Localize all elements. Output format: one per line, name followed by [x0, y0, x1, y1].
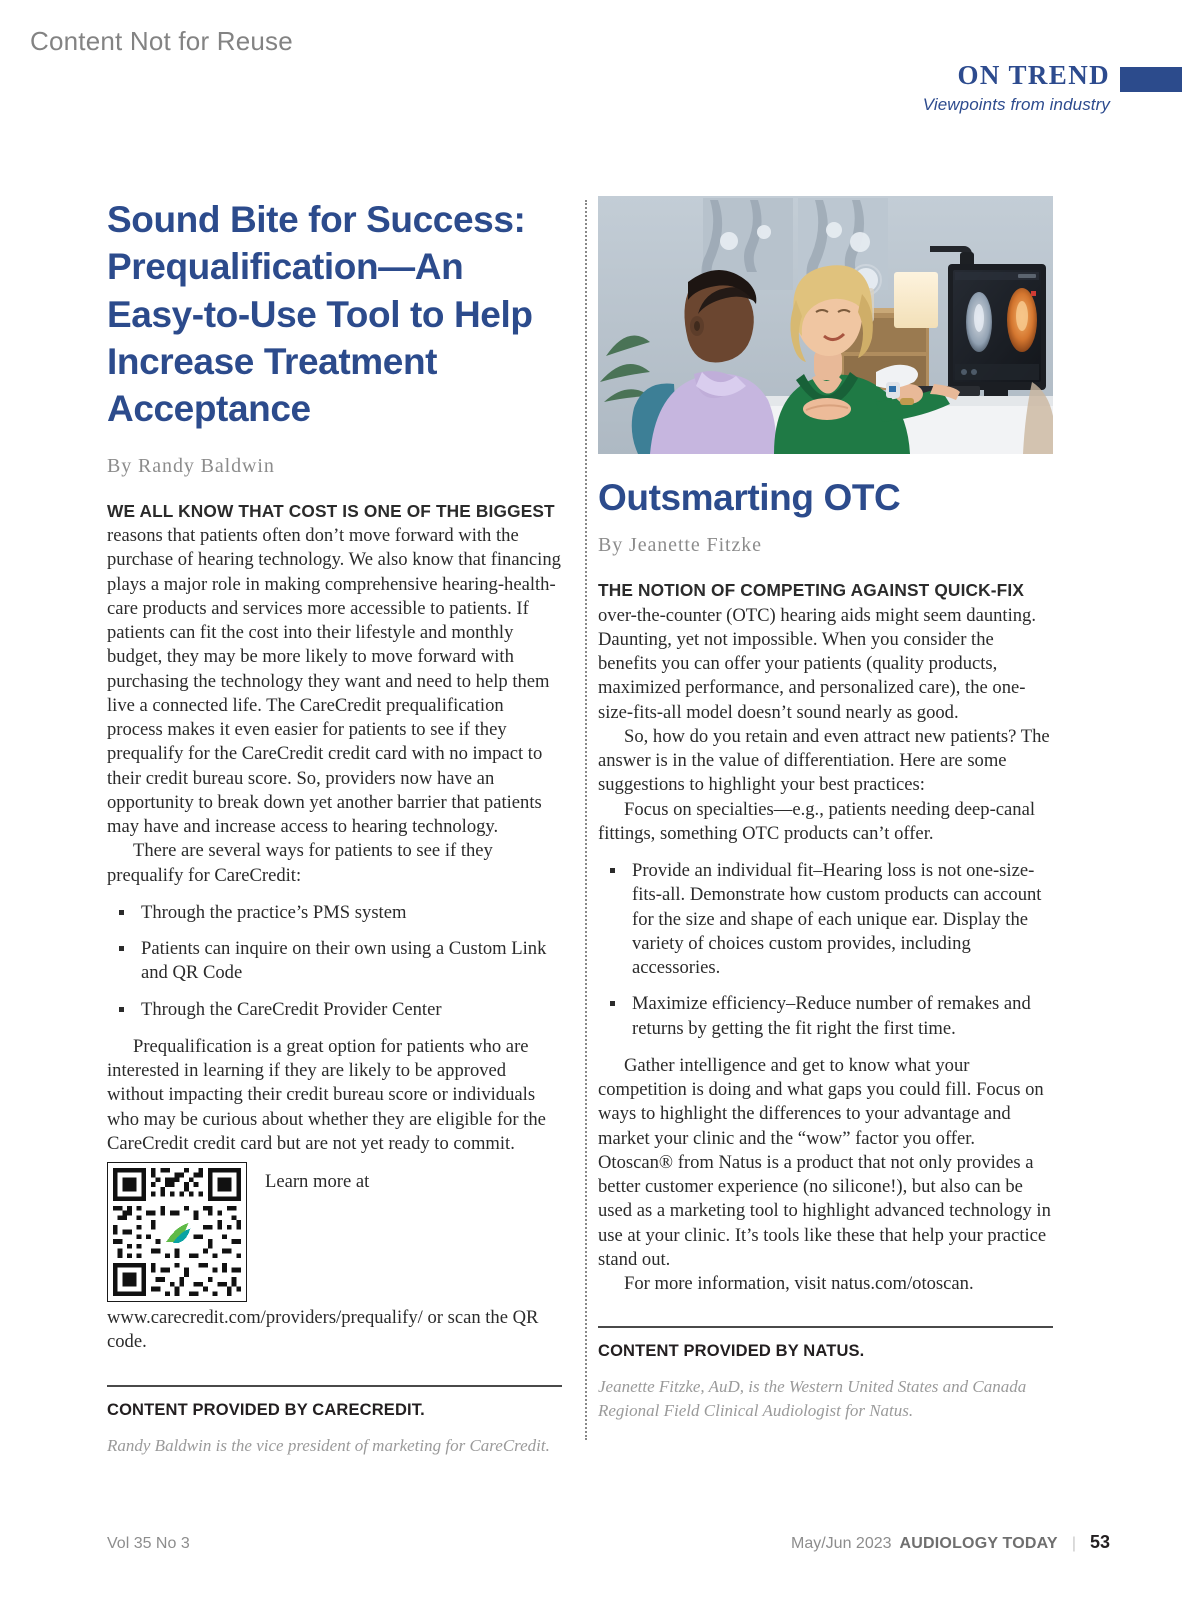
right-article-paragraph-1-rest: over-the-counter (OTC) hearing aids migh… [598, 605, 1036, 723]
article-photo [598, 196, 1053, 454]
article-photo-graphic [598, 196, 1053, 454]
right-article-paragraph-2: So, how do you retain and even attract n… [598, 725, 1053, 798]
footer-issue-date: May/Jun 2023 [791, 1535, 892, 1553]
left-article-qr-paragraph-group: Prequalification is a great option for p… [107, 1035, 562, 1355]
carecredit-logo-mark [160, 1215, 193, 1248]
right-article-headline: Outsmarting OTC [598, 476, 1053, 520]
magazine-page: Content Not for Reuse ON TREND Viewpoint… [0, 0, 1200, 1606]
right-article-author-bio: Jeanette Fitzke, AuD, is the Western Uni… [598, 1375, 1053, 1422]
right-article-provided-by: CONTENT PROVIDED BY NATUS. [598, 1342, 1053, 1361]
left-article-paragraph-2: There are several ways for patients to s… [107, 839, 562, 888]
column-divider-rule [585, 200, 587, 1440]
right-article-bullet-list: Provide an individual fit–Hearing loss i… [598, 859, 1053, 1041]
running-head-accent-bar [1120, 67, 1182, 92]
page-footer: Vol 35 No 3 May/Jun 2023 AUDIOLOGY TODAY… [107, 1532, 1110, 1553]
right-article: Outsmarting OTC By Jeanette Fitzke THE N… [598, 196, 1053, 1422]
left-article-headline: Sound Bite for Success: Prequalification… [107, 196, 562, 433]
qr-code-icon[interactable] [107, 1162, 247, 1302]
right-article-footer-rule [598, 1326, 1053, 1328]
right-article-paragraph-3: Focus on specialties—e.g., patients need… [598, 798, 1053, 847]
list-item: Patients can inquire on their own using … [141, 937, 562, 986]
list-item: Maximize efficiency–Reduce number of rem… [632, 992, 1053, 1041]
list-item: Provide an individual fit–Hearing loss i… [632, 859, 1053, 980]
left-article-paragraph-3: Prequalification is a great option for p… [107, 1035, 562, 1156]
left-article-provided-by: CONTENT PROVIDED BY CARECREDIT. [107, 1401, 562, 1420]
right-article-lead-caps: THE NOTION OF COMPETING AGAINST QUICK-FI… [598, 580, 1024, 600]
footer-separator: | [1066, 1535, 1082, 1553]
left-article-author-bio: Randy Baldwin is the vice president of m… [107, 1434, 562, 1457]
left-article-paragraph-1-rest: reasons that patients often don’t move f… [107, 525, 561, 837]
left-article-bullet-list: Through the practice’s PMS system Patien… [107, 901, 562, 1022]
right-article-paragraph-1: THE NOTION OF COMPETING AGAINST QUICK-FI… [598, 579, 1053, 725]
list-item: Through the CareCredit Provider Center [141, 998, 562, 1022]
footer-right-group: May/Jun 2023 AUDIOLOGY TODAY | 53 [791, 1532, 1110, 1553]
footer-volume: Vol 35 No 3 [107, 1535, 190, 1553]
footer-page-number: 53 [1090, 1532, 1110, 1553]
footer-magazine-title: AUDIOLOGY TODAY [900, 1535, 1058, 1553]
watermark-text: Content Not for Reuse [30, 26, 293, 57]
left-article-footer-rule [107, 1385, 562, 1387]
left-article-byline: By Randy Baldwin [107, 455, 562, 478]
running-head-subkicker: Viewpoints from industry [923, 95, 1110, 115]
left-article: Sound Bite for Success: Prequalification… [107, 196, 562, 1457]
list-item: Through the practice’s PMS system [141, 901, 562, 925]
right-article-byline: By Jeanette Fitzke [598, 534, 1053, 557]
running-head: ON TREND Viewpoints from industry [923, 62, 1110, 115]
qr-code-graphic [108, 1163, 246, 1301]
right-article-paragraph-5: For more information, visit natus.com/ot… [598, 1272, 1053, 1296]
left-article-lead-caps: WE ALL KNOW THAT COST IS ONE OF THE BIGG… [107, 501, 555, 521]
right-article-paragraph-4: Gather intelligence and get to know what… [598, 1054, 1053, 1272]
running-head-kicker: ON TREND [958, 62, 1110, 89]
left-article-paragraph-1: WE ALL KNOW THAT COST IS ONE OF THE BIGG… [107, 500, 562, 840]
